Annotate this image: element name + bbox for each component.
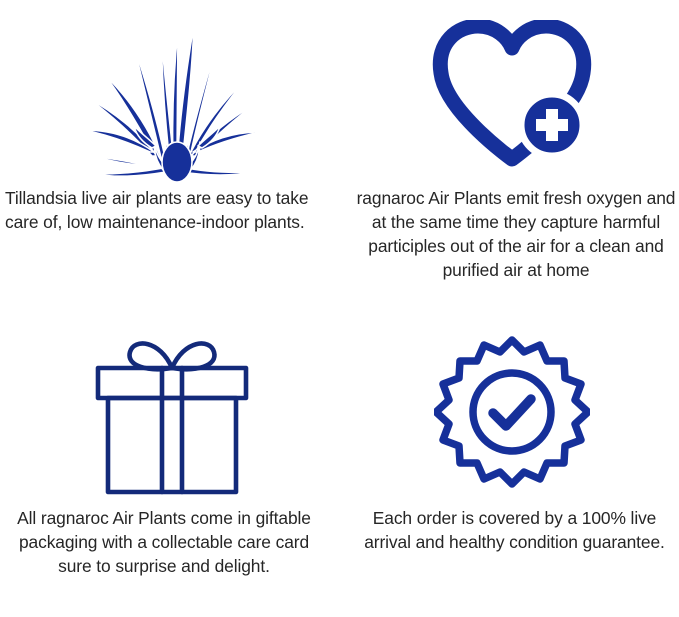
check-icon [493, 399, 531, 426]
feature-panel-giftable-packaging: All ragnaroc Air Plants come in giftable… [0, 310, 344, 617]
feature-caption: ragnaroc Air Plants emit fresh oxygen an… [344, 186, 679, 282]
gift-box-icon [86, 332, 258, 498]
feature-grid: Tillandsia live air plants are easy to t… [0, 0, 679, 617]
heart-plus-icon-container [344, 0, 679, 186]
badge-inner-circle [473, 373, 551, 451]
guarantee-badge-icon [434, 334, 590, 496]
bow-loop-right [172, 344, 214, 370]
feature-caption: All ragnaroc Air Plants come in giftable… [0, 506, 344, 578]
heart-plus-icon [432, 20, 592, 170]
feature-panel-air-purifying: ragnaroc Air Plants emit fresh oxygen an… [344, 0, 679, 310]
feature-panel-air-plant: Tillandsia live air plants are easy to t… [0, 0, 344, 310]
rosette-outline [436, 340, 588, 484]
gift-box-icon-container [0, 310, 344, 506]
feature-panel-guarantee: Each order is covered by a 100% live arr… [344, 310, 679, 617]
guarantee-badge-icon-container [344, 310, 679, 506]
feature-caption: Tillandsia live air plants are easy to t… [0, 186, 344, 234]
feature-caption: Each order is covered by a 100% live arr… [344, 506, 679, 554]
gift-body [108, 398, 236, 492]
air-plant-icon [82, 12, 262, 182]
air-plant-icon-container [0, 0, 344, 186]
bow-loop-left [130, 344, 172, 370]
gift-lid [98, 368, 246, 398]
